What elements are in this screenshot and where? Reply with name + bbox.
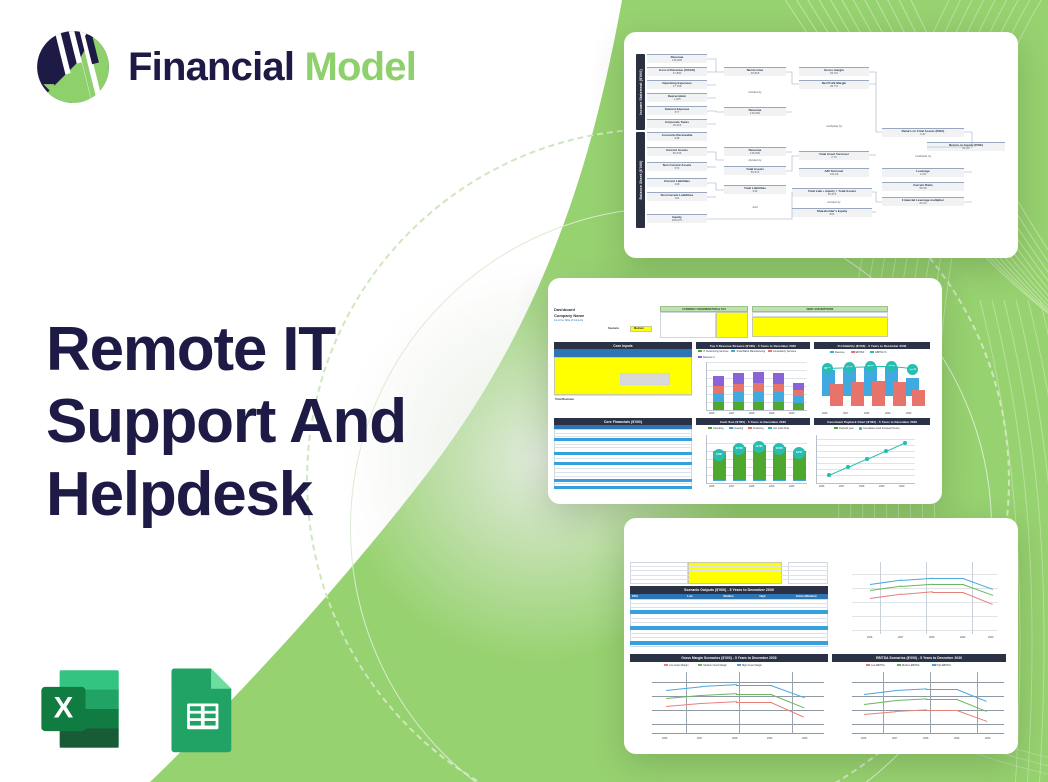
col-low: Low: [685, 595, 721, 598]
headline-line-3: Helpdesk: [46, 459, 476, 532]
headline-line-2: Support And: [46, 386, 476, 459]
x-tick: 2030: [985, 737, 990, 740]
chart-legend-cash-flow: Operating Investing Financing Net Cash F…: [708, 427, 789, 430]
x-tick: 2027: [898, 636, 903, 639]
x-tick: 2030: [906, 412, 911, 415]
financial-model-circle-logo-icon: [34, 28, 112, 106]
row-divider: [554, 395, 692, 396]
dashboard-title-2: Company Name: [554, 314, 584, 318]
section-header-core-financials: Core Financials ($'000): [554, 418, 692, 425]
chart-title-gross-margin: Gross Margin Scenarios ($'000) - 5 Years…: [630, 654, 828, 662]
data-label-bubble: 10,500: [773, 443, 785, 455]
chart-plot-gross-margin: [652, 672, 824, 734]
core-financials-highlight-row: [554, 438, 692, 441]
driver-tree-diagram: Income Statement ($'000) Balance Sheet (…: [624, 32, 1018, 258]
x-tick: 2028: [749, 485, 754, 488]
x-tick: 2026: [662, 737, 667, 740]
brand-word-green: Model: [305, 45, 417, 89]
x-tick: 2026: [819, 485, 824, 488]
x-tick: 2027: [839, 485, 844, 488]
x-tick: 2026: [861, 737, 866, 740]
x-tick: 2029: [879, 485, 884, 488]
supported-apps: X: [34, 663, 246, 755]
x-tick: 2030: [789, 485, 794, 488]
col-high: High: [758, 595, 794, 598]
dashboard-toc-link[interactable]: Go to the Table of Contents: [554, 320, 583, 322]
x-tick: 2028: [864, 412, 869, 415]
x-tick: 2029: [960, 636, 965, 639]
brand-word-dark: Financial: [128, 45, 294, 89]
screenshot-card-dashboard[interactable]: Dashboard Company Name Go to the Table o…: [548, 278, 942, 504]
promo-banner: Financial Model Remote IT Support And He…: [0, 0, 1048, 782]
google-sheets-icon: [154, 663, 246, 755]
tree-connectors: [624, 32, 1018, 258]
x-tick: 2029: [954, 737, 959, 740]
microsoft-excel-icon: X: [34, 663, 126, 755]
x-tick: 2028: [859, 485, 864, 488]
x-tick: 2027: [729, 412, 734, 415]
x-tick: 2026: [822, 412, 827, 415]
col-active: Active (Medium): [794, 595, 828, 598]
page-title: Remote IT Support And Helpdesk: [46, 314, 476, 532]
chart-plot-scenario-trend: [852, 562, 998, 634]
section-header-core-inputs: Core Inputs: [554, 342, 692, 349]
core-inputs-greyblock: [620, 373, 670, 385]
x-tick: 2029: [885, 412, 890, 415]
screenshot-card-scenarios[interactable]: Scenario Outputs ($'000) - 5 Years to De…: [624, 518, 1018, 754]
data-label-bubble: 40.2%: [907, 364, 918, 375]
x-tick: 2027: [892, 737, 897, 740]
currency-inputs[interactable]: [716, 312, 748, 338]
x-tick: 2029: [767, 737, 772, 740]
x-tick: 2026: [709, 412, 714, 415]
scenario-highlight-row: [630, 610, 828, 614]
x-tick: 2027: [843, 412, 848, 415]
scenario-highlight-row: [630, 626, 828, 630]
core-inputs-total-label: Total Revenue: [555, 398, 574, 401]
chart-title-revenue-streams: Top 5 Revenue Streams ($'000) - 5 Years …: [696, 342, 810, 349]
col-medium: Medium: [721, 595, 757, 598]
scenario-value: Medium: [634, 328, 644, 331]
x-tick: 2030: [899, 485, 904, 488]
x-tick: 2027: [729, 485, 734, 488]
chart-title-ebitda: EBITDA Scenarios ($'000) - 5 Years to De…: [832, 654, 1006, 662]
dashboard-title-1: Dashboard: [554, 308, 575, 312]
scenario-label: Scenario: [608, 328, 619, 331]
data-label-bubble: 6,500: [713, 449, 725, 461]
currency-labels: [660, 312, 716, 338]
chart-legend-ebitda: Low EBITDA Medium EBITDA High EBITDA: [866, 664, 951, 667]
x-tick: 2026: [709, 485, 714, 488]
brand-logo: Financial Model: [34, 28, 416, 106]
x-tick: 2028: [732, 737, 737, 740]
chart-plot-profitability: 38.1% 41.2% 43.0% 42.6% 40.2%: [818, 360, 926, 410]
chart-title-profitability: Profitability ($'000) - 5 Years to Decem…: [814, 342, 930, 349]
x-tick: 2030: [802, 737, 807, 740]
screenshot-card-driver-tree[interactable]: Income Statement ($'000) Balance Sheet (…: [624, 32, 1018, 258]
x-tick: 2030: [789, 412, 794, 415]
chart-legend-payback: Payback year Cumulative Cash Invested (G…: [834, 427, 900, 430]
section-header-scenario-outputs: Scenario Outputs ($'000) - 5 Years to De…: [630, 586, 828, 594]
chart-legend-profitability: Revenue EBITDA EBITDA %: [830, 351, 887, 354]
chart-title-payback: Investment Payback Chart ($'000) - 5 Yea…: [814, 418, 930, 425]
brand-wordmark: Financial Model: [128, 47, 416, 87]
core-financials-highlight-row: [554, 479, 692, 482]
chart-title-cash-flow: Cash flow ($'000) - 5 Years to December …: [696, 418, 810, 425]
chart-plot-cash-flow: 6,500 10,700 11,700 10,500 8,100: [706, 435, 807, 484]
x-tick: 2028: [929, 636, 934, 639]
x-tick: 2027: [697, 737, 702, 740]
core-financials-highlight-row: [554, 486, 692, 489]
scenario-highlight-row: [630, 641, 828, 645]
headline-line-1: Remote IT: [46, 314, 476, 387]
core-financials-highlight-row: [554, 462, 692, 465]
x-tick: 2029: [769, 412, 774, 415]
data-label-bubble: 11,700: [753, 441, 765, 453]
x-tick: 2028: [749, 412, 754, 415]
core-financials-highlight-row: [554, 452, 692, 455]
svg-text:X: X: [54, 691, 74, 724]
x-tick: 2026: [867, 636, 872, 639]
col-kpis: KPIs: [630, 595, 685, 598]
chart-legend-revenue-streams: IT Outsourcing Services Small Batch Manu…: [698, 350, 810, 359]
chart-plot-payback: [816, 435, 915, 484]
chart-plot-ebitda: [852, 672, 1004, 734]
chart-legend-gross-margin: Low Gross Margin Medium Gross Margin Hig…: [664, 664, 762, 667]
x-tick: 2029: [769, 485, 774, 488]
debt-inputs[interactable]: [752, 317, 888, 337]
x-tick: 2028: [923, 737, 928, 740]
chart-plot-revenue-streams: [706, 362, 807, 411]
data-label-bubble: 8,100: [793, 447, 805, 459]
x-tick: 2030: [988, 636, 993, 639]
data-label-bubble: 10,700: [733, 443, 745, 455]
